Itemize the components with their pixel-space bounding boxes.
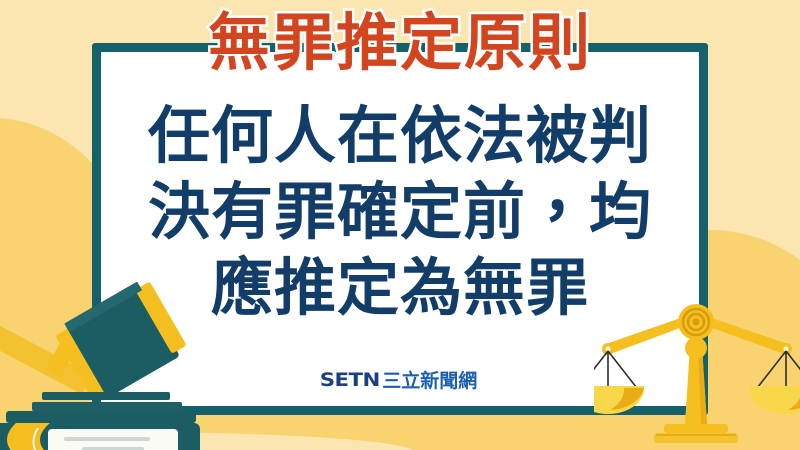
gavel-block-icon <box>32 392 182 411</box>
law-books-icon <box>0 411 200 450</box>
scales-stand-icon <box>654 337 738 443</box>
page-title: 無罪推定原則 <box>0 12 800 74</box>
gavel-and-books-illustration <box>0 282 240 450</box>
body-line-2: 決有罪確定前，均 <box>100 174 700 250</box>
infographic-canvas: 無罪推定原則 任何人在依法被判 決有罪確定前，均 應推定為無罪 SETN 三立新… <box>0 0 800 450</box>
scales-of-justice-illustration <box>594 300 800 450</box>
logo-wordmark: SETN <box>320 369 380 391</box>
logo-name-cn: 三立新聞網 <box>382 366 477 393</box>
scales-right-pan-icon <box>750 351 800 414</box>
body-line-1: 任何人在依法被判 <box>100 98 700 174</box>
scales-left-pan-icon <box>594 351 644 414</box>
